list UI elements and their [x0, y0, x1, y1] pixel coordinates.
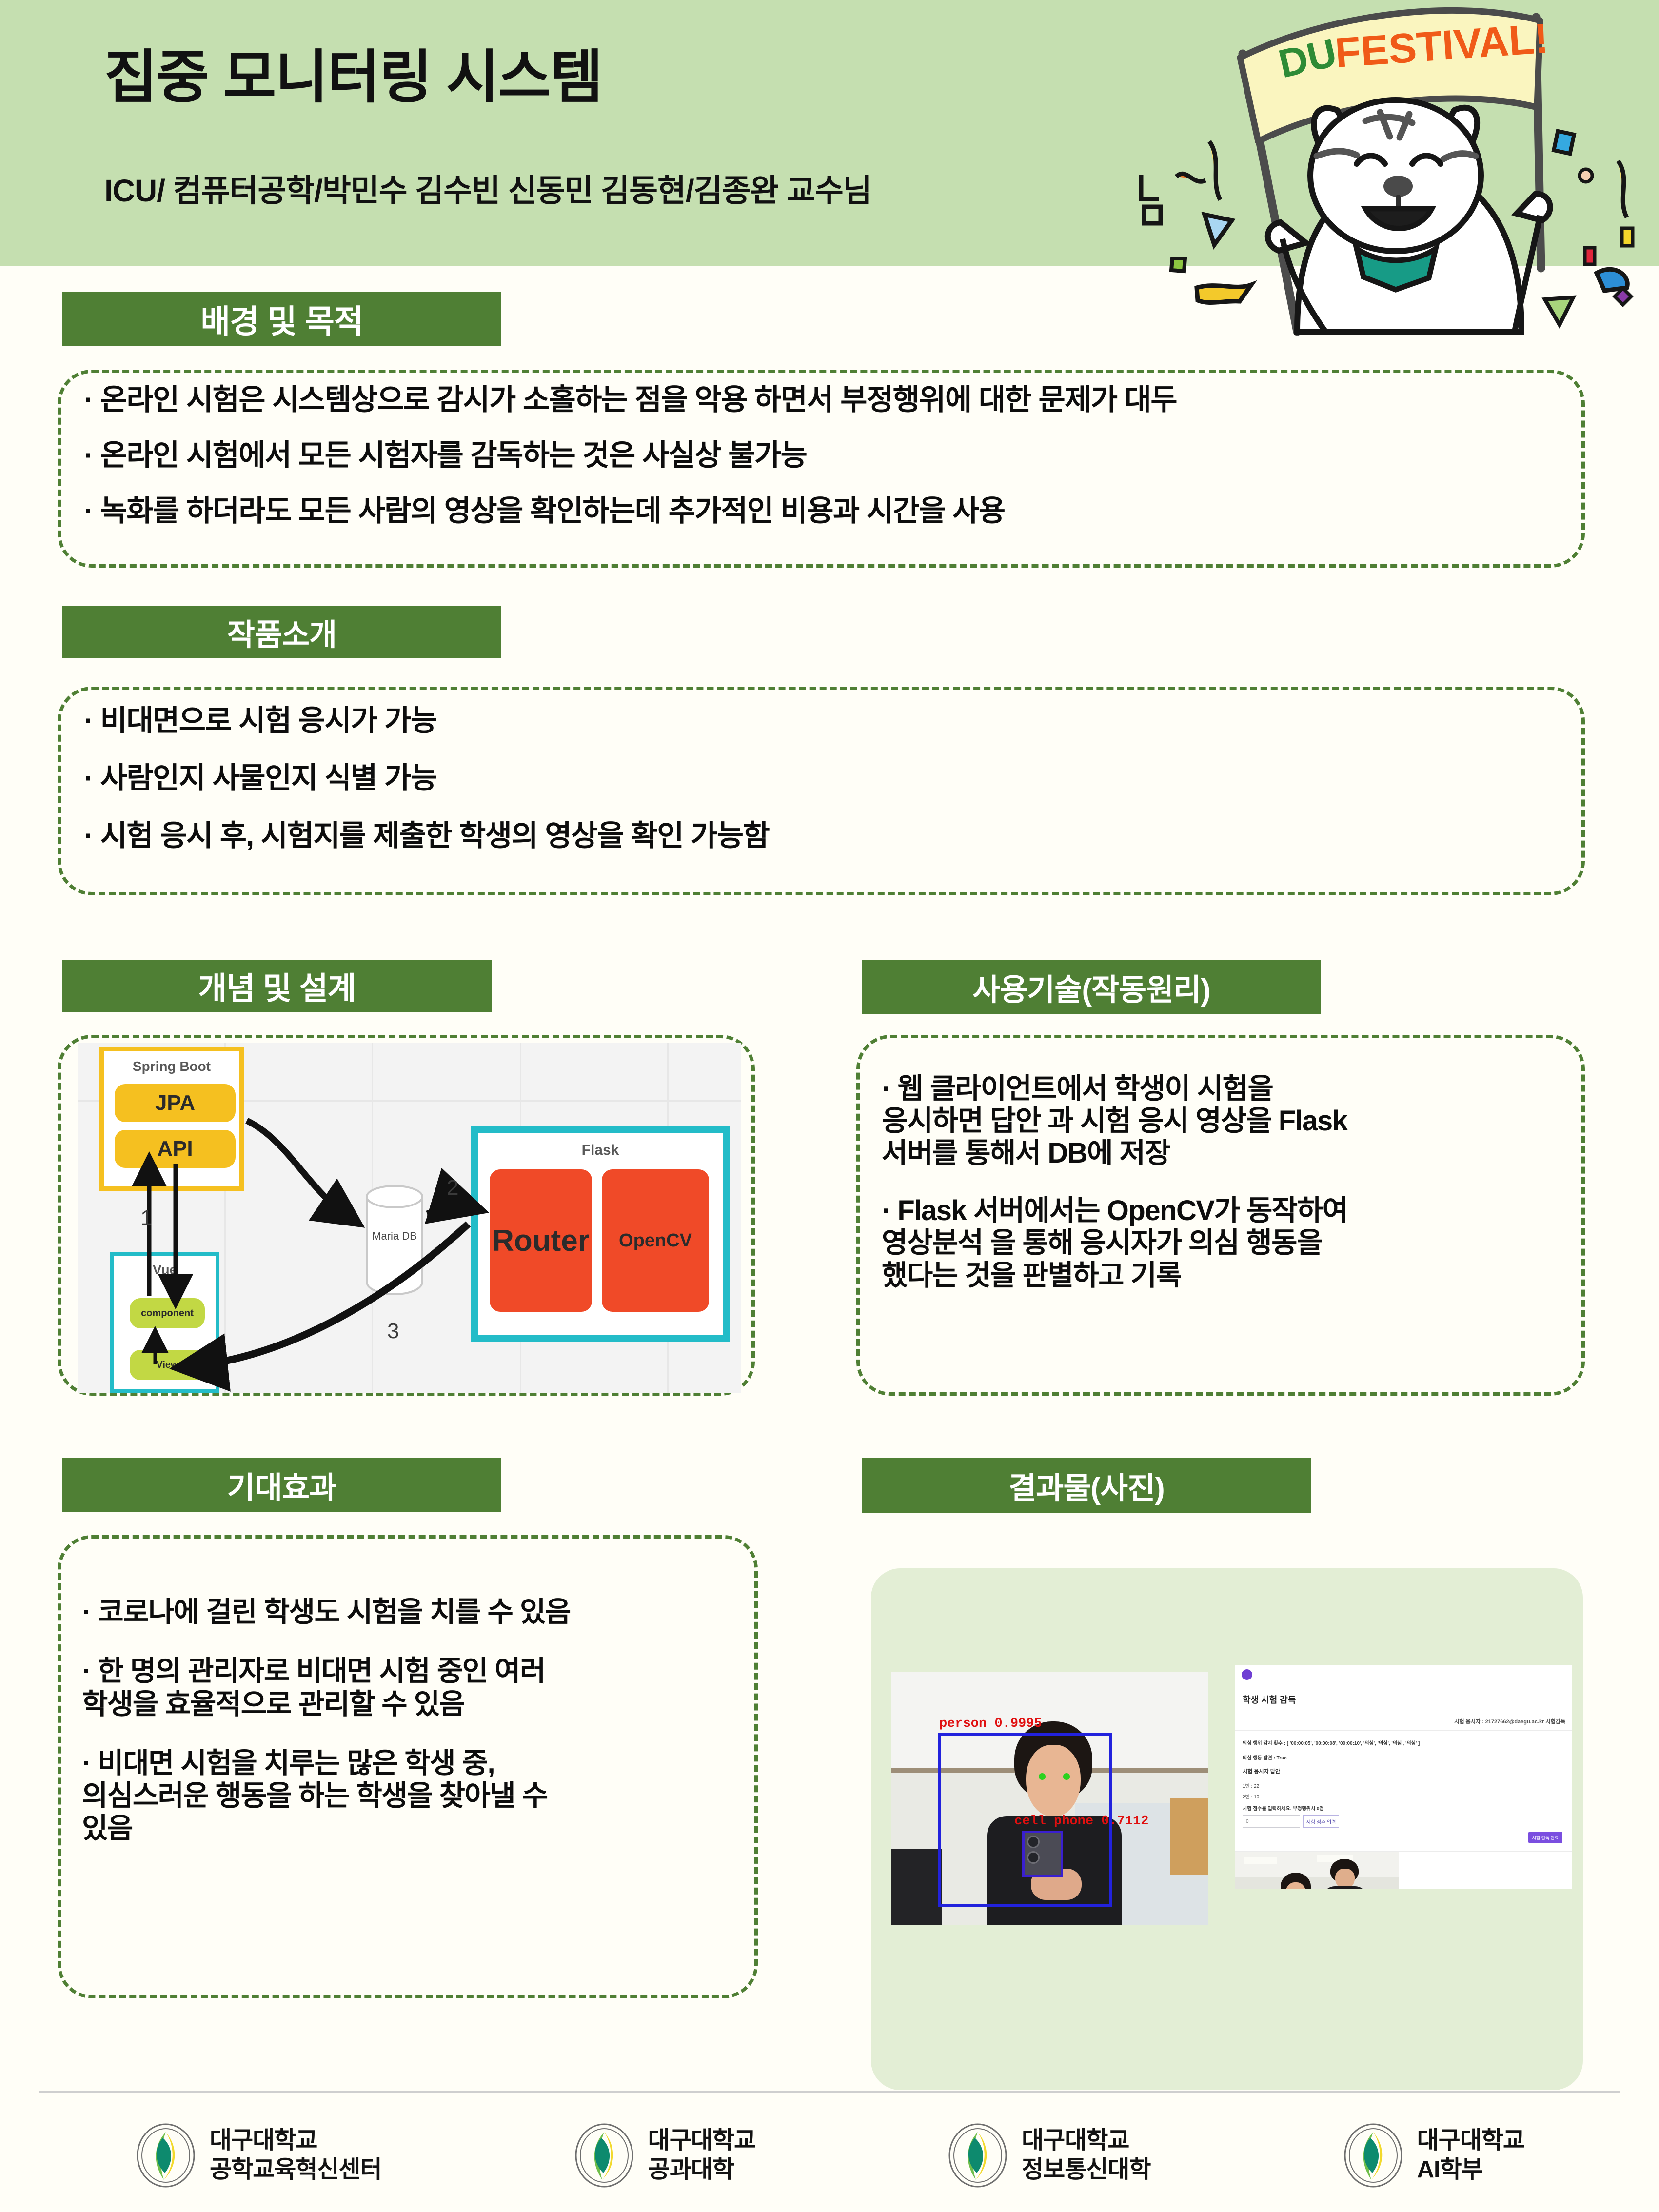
daegu-university-seal-icon: [573, 2122, 635, 2189]
detection-label-cell-phone: cell phone 0.7112: [1014, 1814, 1148, 1829]
score-input[interactable]: [1243, 1815, 1300, 1828]
score-submit-button[interactable]: 시험 점수 입력: [1303, 1815, 1339, 1828]
app-answers-heading: 시험 응시자 답안: [1243, 1767, 1280, 1775]
app-page-title: 학생 시험 감독: [1243, 1693, 1296, 1706]
daegu-university-seal-icon: [1342, 2122, 1404, 2189]
detection-screenshot: person 0.9995 cell phone 0.7112: [891, 1672, 1208, 1925]
list-item: · 온라인 시험은 시스템상으로 감시가 소홀하는 점을 악용 하면서 부정행위…: [84, 385, 1566, 415]
recorded-video-player[interactable]: 0:05 / 0:06: [1235, 1852, 1399, 1889]
detection-label-person: person 0.9995: [939, 1717, 1042, 1731]
app-answer-1: 1번 : 22: [1243, 1782, 1259, 1789]
section-heading-background: 배경 및 목적: [62, 292, 501, 346]
logo-item: 대구대학교 공과대학: [573, 2122, 755, 2189]
list-item: · 비대면 시험을 치루는 많은 학생 중, 의심스러운 행동을 하는 학생을 …: [82, 1747, 745, 1845]
daegu-university-seal-icon: [947, 2122, 1009, 2189]
app-examinee: 시험 응시자 : 21727662@daegu.ac.kr 시험감독: [1454, 1718, 1565, 1725]
list-item: · 코로나에 걸린 학생도 시험을 치를 수 있음: [82, 1596, 745, 1628]
list-item: · 한 명의 관리자로 비대면 시험 중인 여러 학생을 효율적으로 관리할 수…: [82, 1655, 745, 1720]
finish-monitoring-button[interactable]: 시험 감독 완료: [1528, 1832, 1562, 1843]
background-bullet-list: · 온라인 시험은 시스템상으로 감시가 소홀하는 점을 악용 하면서 부정행위…: [84, 385, 1566, 526]
page-subtitle: ICU/ 컴퓨터공학/박민수 김수빈 신동민 김동현/김종완 교수님: [104, 166, 871, 211]
list-item: · 녹화를 하더라도 모든 사람의 영상을 확인하는데 추가적인 비용과 시간을…: [84, 496, 1566, 526]
section-heading-results: 결과물(사진): [862, 1458, 1311, 1513]
app-suspect-count: 의심 행위 감지 횟수 : [ '00:00:05', '00:00:08', …: [1243, 1739, 1420, 1746]
list-item: · 웹 클라이언트에서 학생이 시험을 응시하면 답안 과 시험 응시 영상을 …: [882, 1073, 1564, 1169]
app-suspect-found: 의심 행동 발견 : True: [1243, 1754, 1287, 1761]
page-title: 집중 모니터링 시스템: [104, 30, 602, 114]
poster-root: 집중 모니터링 시스템 ICU/ 컴퓨터공학/박민수 김수빈 신동민 김동현/김…: [0, 0, 1659, 2212]
footer-divider: [39, 2091, 1620, 2093]
architecture-diagram: Spring Boot JPA API Vue component View: [78, 1043, 741, 1393]
section-heading-intro-label: 작품소개: [227, 610, 336, 654]
section-heading-tech: 사용기술(작동원리): [862, 960, 1321, 1014]
list-item: · Flask 서버에서는 OpenCV가 동작하여 영상분석 을 통해 응시자…: [882, 1195, 1564, 1291]
svg-text:3: 3: [387, 1319, 399, 1343]
section-heading-effect: 기대효과: [62, 1458, 501, 1512]
section-heading-background-label: 배경 및 목적: [200, 296, 363, 342]
section-heading-intro: 작품소개: [62, 606, 501, 658]
svg-text:2: 2: [447, 1176, 458, 1200]
section-heading-tech-label: 사용기술(작동원리): [972, 965, 1210, 1009]
logo-item: 대구대학교 정보통신대학: [947, 2122, 1150, 2189]
logo-item: 대구대학교 공학교육혁신센터: [135, 2122, 382, 2189]
app-topbar: [1235, 1665, 1572, 1685]
list-item: · 사람인지 사물인지 식별 가능: [84, 764, 1566, 793]
footer-logos: 대구대학교 공학교육혁신센터 대구대학교 공과대학: [39, 2112, 1620, 2199]
list-item: · 온라인 시험에서 모든 시험자를 감독하는 것은 사실상 불가능: [84, 441, 1566, 470]
list-item: · 비대면으로 시험 응시가 가능: [84, 706, 1566, 735]
logo-label: 대구대학교 공학교육혁신센터: [210, 2126, 382, 2185]
daegu-university-seal-icon: [135, 2122, 197, 2189]
app-answer-2: 2번 : 10: [1243, 1793, 1259, 1800]
logo-label: 대구대학교 AI학부: [1417, 2126, 1524, 2185]
tech-bullet-list: · 웹 클라이언트에서 학생이 시험을 응시하면 답안 과 시험 응시 영상을 …: [882, 1073, 1564, 1292]
effect-bullet-list: · 코로나에 걸린 학생도 시험을 치를 수 있음 · 한 명의 관리자로 비대…: [82, 1596, 745, 1845]
section-heading-design-label: 개념 및 설계: [198, 964, 356, 1008]
logo-label: 대구대학교 공과대학: [648, 2126, 755, 2185]
logo-label: 대구대학교 정보통신대학: [1022, 2126, 1150, 2185]
logo-item: 대구대학교 AI학부: [1342, 2122, 1524, 2189]
list-item: · 시험 응시 후, 시험지를 제출한 학생의 영상을 확인 가능함: [84, 821, 1566, 850]
monitoring-app-screenshot: 학생 시험 감독 시험 응시자 : 21727662@daegu.ac.kr 시…: [1235, 1665, 1572, 1889]
section-heading-effect-label: 기대효과: [227, 1463, 336, 1507]
app-score-prompt: 시험 점수를 입력하세요. 부정행위시 0점: [1243, 1804, 1324, 1812]
intro-bullet-list: · 비대면으로 시험 응시가 가능 · 사람인지 사물인지 식별 가능 · 시험…: [84, 706, 1566, 850]
svg-text:1: 1: [140, 1206, 152, 1230]
section-heading-results-label: 결과물(사진): [1008, 1463, 1165, 1507]
section-heading-design: 개념 및 설계: [62, 960, 492, 1012]
mascot-illustration: DU FESTIVAL!: [1136, 0, 1659, 336]
app-logo-icon: [1242, 1669, 1252, 1680]
